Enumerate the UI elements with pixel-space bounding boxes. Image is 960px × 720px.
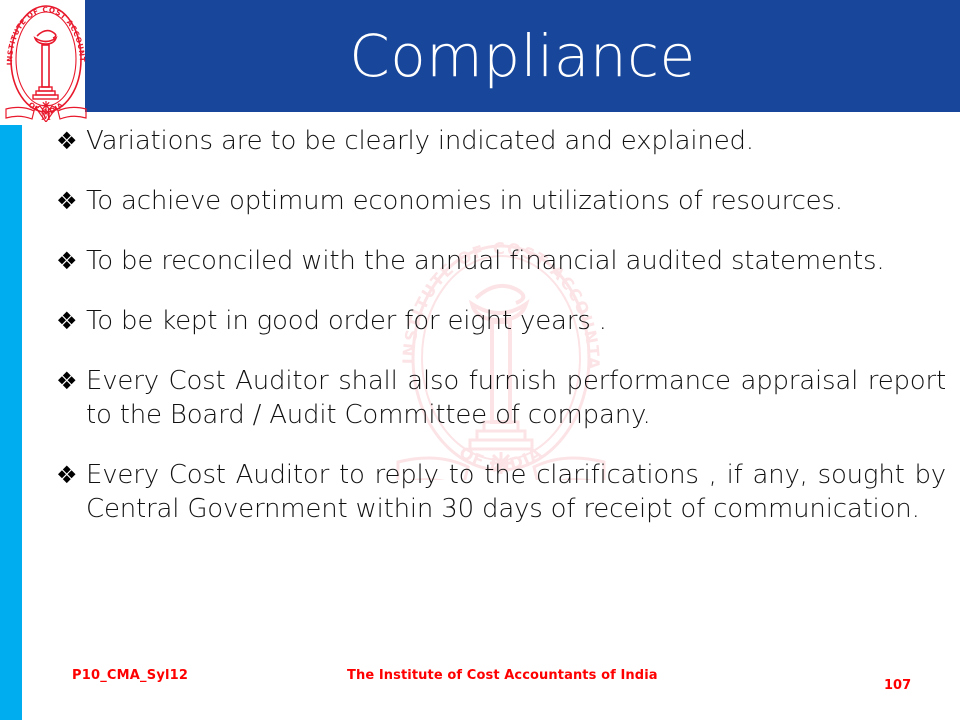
list-item-text: Every Cost Auditor shall also furnish pe… [86,364,946,432]
list-item: ❖ To achieve optimum economies in utiliz… [56,184,946,218]
left-accent-strip [0,125,22,720]
institute-logo: THE INSTITUTE OF COST ACCOUNTANTS OF IND… [4,2,88,122]
list-item: ❖ To be kept in good order for eight yea… [56,304,946,338]
diamond-bullet-icon: ❖ [56,458,86,492]
diamond-bullet-icon: ❖ [56,304,86,338]
diamond-bullet-icon: ❖ [56,364,86,398]
bullet-list: ❖ Variations are to be clearly indicated… [56,124,946,644]
footer-course-code: P10_CMA_Syl12 [72,668,188,683]
list-item-text: Variations are to be clearly indicated a… [86,124,946,158]
list-item: ❖ Every Cost Auditor to reply to the cla… [56,458,946,526]
list-item: ❖ To be reconciled with the annual finan… [56,244,946,278]
footer-page-number: 107 [884,678,911,693]
list-item-text: To achieve optimum economies in utilizat… [86,184,946,218]
list-item-text: Every Cost Auditor to reply to the clari… [86,458,946,526]
list-item-text: To be kept in good order for eight years… [86,304,946,338]
diamond-bullet-icon: ❖ [56,184,86,218]
diamond-bullet-icon: ❖ [56,124,86,158]
list-item: ❖ Every Cost Auditor shall also furnish … [56,364,946,432]
page-title: Compliance [85,0,960,112]
svg-text:M: M [41,113,51,122]
slide: Compliance THE INSTITUTE OF COST ACCOUNT… [0,0,960,720]
list-item-text: To be reconciled with the annual financi… [86,244,946,278]
diamond-bullet-icon: ❖ [56,244,86,278]
list-item: ❖ Variations are to be clearly indicated… [56,124,946,158]
footer-organization: The Institute of Cost Accountants of Ind… [347,668,658,683]
